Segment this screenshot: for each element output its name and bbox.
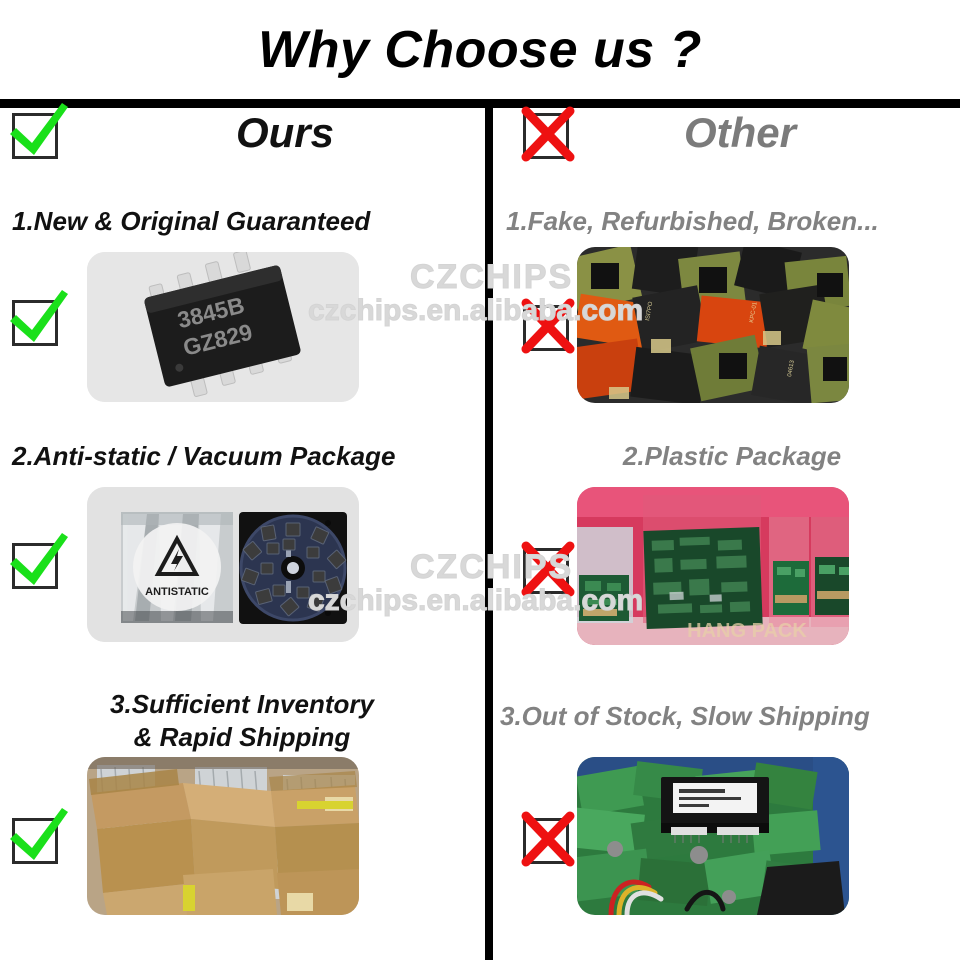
row-2-ours-heading: 2.Anti-static / Vacuum Package — [12, 440, 478, 473]
row-1-ours-heading: 1.New & Original Guaranteed — [12, 205, 472, 238]
row-2-ours-photo: ANTISTATIC — [87, 487, 359, 642]
column-header-ours: Ours — [120, 110, 450, 156]
svg-text:ANTISTATIC: ANTISTATIC — [145, 586, 209, 598]
row-2-other-heading: 2.Plastic Package — [506, 440, 958, 473]
check-mark-box-header — [12, 113, 58, 159]
row-2-other-photo: HANG PACK — [577, 487, 849, 645]
check-mark-icon — [6, 98, 72, 164]
cross-mark-icon — [517, 290, 583, 356]
check-mark-icon — [6, 528, 72, 594]
row-3-ours-photo — [87, 757, 359, 915]
check-mark-box-row-3 — [12, 818, 58, 864]
check-mark-icon — [6, 285, 72, 351]
row-3-ours-heading-line-2: & Rapid Shipping — [12, 721, 472, 754]
row-3-other-heading: 3.Out of Stock, Slow Shipping — [500, 700, 958, 733]
row-1-other-heading: 1.Fake, Refurbished, Broken... — [506, 205, 958, 238]
cross-mark-icon — [517, 98, 583, 164]
row-3-ours-heading-line-1: 3.Sufficient Inventory — [12, 688, 472, 721]
row-3-ours-heading: 3.Sufficient Inventory & Rapid Shipping — [12, 688, 472, 753]
cross-mark-box-header — [523, 113, 569, 159]
header-divider — [0, 99, 960, 108]
svg-text:HANG PACK: HANG PACK — [687, 620, 807, 642]
why-choose-us-infographic: Why Choose us ? Ours Other 1.New & Origi… — [0, 0, 960, 960]
check-mark-box-row-1 — [12, 300, 58, 346]
row-1-ours-photo: 3845B GZ829 — [87, 252, 359, 402]
cross-mark-icon — [517, 803, 583, 869]
cross-mark-icon — [517, 533, 583, 599]
cross-mark-box-row-3 — [523, 818, 569, 864]
column-divider — [485, 104, 493, 960]
page-title: Why Choose us ? — [0, 22, 960, 79]
cross-mark-box-row-1 — [523, 305, 569, 351]
row-1-other-photo: ISI7PO KPC-01 04613 — [577, 247, 849, 403]
row-3-other-photo — [577, 757, 849, 915]
cross-mark-box-row-2 — [523, 548, 569, 594]
check-mark-icon — [6, 803, 72, 869]
column-header-other: Other — [575, 110, 905, 156]
check-mark-box-row-2 — [12, 543, 58, 589]
